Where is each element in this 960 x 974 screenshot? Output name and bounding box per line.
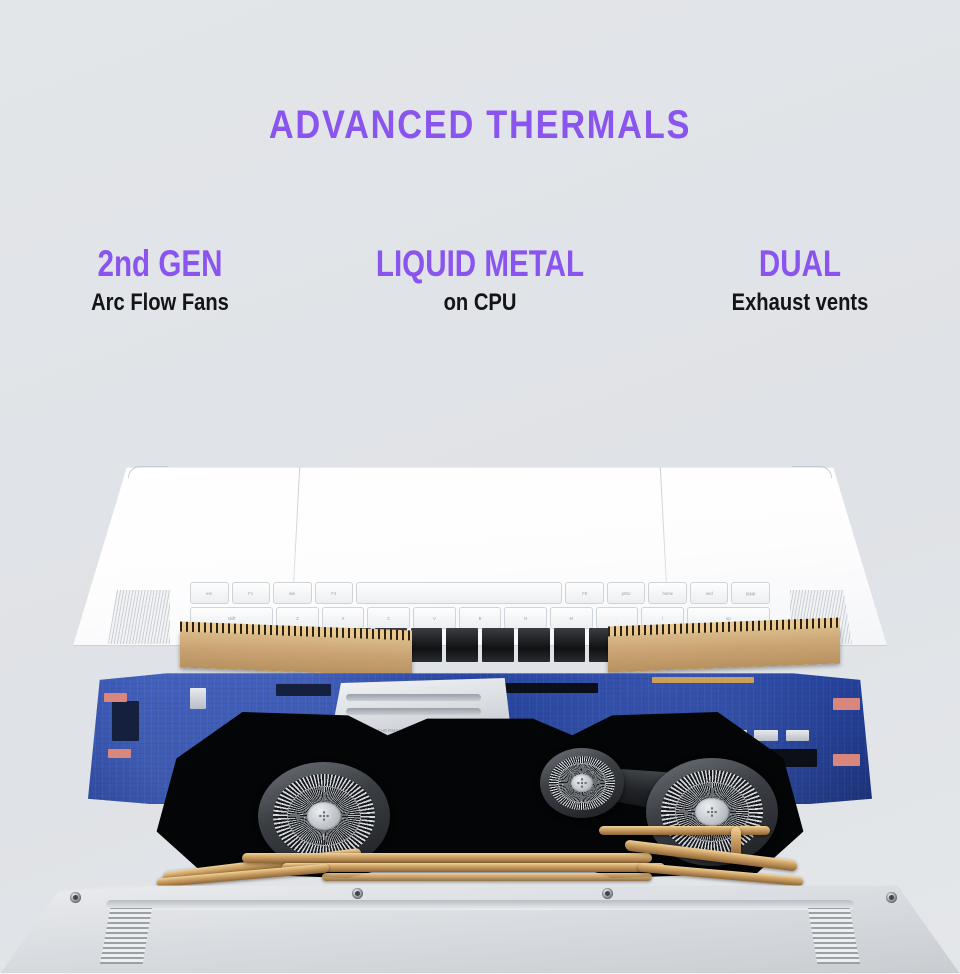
key-shaft <box>411 628 443 662</box>
chassis-screw <box>602 888 613 899</box>
key-shaft <box>482 628 514 662</box>
key-f9: F9 <box>565 582 604 604</box>
ribbon-connector <box>652 677 754 682</box>
key-shaft <box>518 628 550 662</box>
key-prtsc: prtsc <box>607 582 646 604</box>
key-c: C <box>367 607 410 629</box>
key-end: end <box>690 582 729 604</box>
heat-pipe <box>282 863 665 872</box>
pcb-component <box>786 730 810 741</box>
deck-corner-left <box>128 466 168 478</box>
key-m: M <box>550 607 593 629</box>
heat-pipe <box>599 826 771 835</box>
key-f4: F4 <box>315 582 354 604</box>
pcb-connector <box>108 749 132 758</box>
heat-pipe <box>242 853 651 863</box>
shield-ridge <box>346 694 481 701</box>
pcb-component <box>496 683 598 694</box>
chassis-screw <box>70 892 81 903</box>
deck-corner-right <box>792 466 832 478</box>
pcb-component <box>276 684 331 696</box>
chassis-screw <box>352 888 363 899</box>
shield-ridge <box>346 708 481 715</box>
pcb-component <box>754 730 778 741</box>
speaker-grille-left <box>108 590 170 644</box>
pcb-connector <box>104 693 128 702</box>
key-x: X <box>322 607 365 629</box>
pcb-component <box>190 688 206 709</box>
pcb-component <box>112 701 139 741</box>
key-pgup: pgup <box>731 582 770 604</box>
exhaust-vent-fin-block-right <box>608 618 840 673</box>
key-f1: F1 <box>232 582 271 604</box>
key-shaft <box>554 628 586 662</box>
key-home: home <box>648 582 687 604</box>
exploded-laptop-illustration: esc F1 win F4 F9 prtsc home end pgup shi… <box>0 0 960 960</box>
key-space <box>356 582 562 604</box>
chassis-screw <box>886 892 897 903</box>
fin-body-right <box>608 628 840 673</box>
key-v: V <box>413 607 456 629</box>
key-shaft <box>446 628 478 662</box>
key-n: N <box>504 607 547 629</box>
keyboard-row-top: esc F1 win F4 F9 prtsc home end pgup <box>190 582 770 604</box>
key-win: win <box>273 582 312 604</box>
key-b: B <box>459 607 502 629</box>
pcb-connector <box>833 754 860 766</box>
fin-body-left <box>180 632 412 677</box>
pcb-connector <box>833 698 860 710</box>
key-esc: esc <box>190 582 229 604</box>
exhaust-vent-fin-block-left <box>180 622 412 677</box>
fan-hub <box>571 774 593 792</box>
chassis-lip <box>106 900 855 910</box>
